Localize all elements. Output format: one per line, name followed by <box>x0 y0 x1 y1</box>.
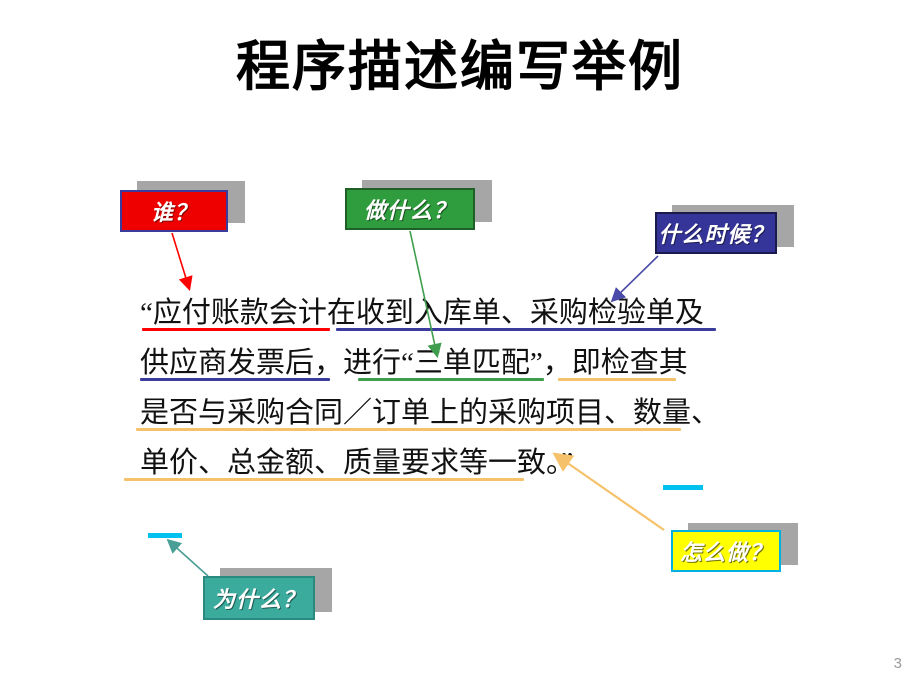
body-line-3: 是否与采购合同／订单上的采购项目、数量、 <box>140 388 720 438</box>
arrow-why <box>169 541 208 576</box>
what-underline <box>358 378 544 381</box>
how-cyan-marker <box>663 485 703 490</box>
body-line-1: “应付账款会计在收到入库单、采购检验单及 <box>140 288 720 338</box>
when-underline-a <box>336 328 716 331</box>
when-underline-b <box>140 378 330 381</box>
callout-when[interactable]: 什么时候？ <box>655 212 777 254</box>
why-cyan-marker <box>148 533 182 538</box>
arrow-who <box>172 233 189 288</box>
body-line-2: 供应商发票后，进行“三单匹配”，即检查其 <box>140 338 720 388</box>
callout-why-label: 为什么？ <box>213 582 305 614</box>
callout-what[interactable]: 做什么？ <box>345 188 475 230</box>
callout-when-label: 什么时候？ <box>658 217 773 249</box>
page-title: 程序描述编写举例 <box>0 38 920 97</box>
body-line-4-text: 单价、总金额、质量要求等一致。” <box>140 447 573 479</box>
callout-how[interactable]: 怎么做？ <box>671 530 781 572</box>
how-underline-b <box>136 428 681 431</box>
how-underline-a <box>558 378 676 381</box>
slide-canvas: 程序描述编写举例 谁？ 做什么？ 什么时候？ 怎么做？ 为什么？ “应付账款会计… <box>0 0 920 690</box>
callout-how-label: 怎么做？ <box>680 535 772 567</box>
how-underline-c <box>124 478 524 481</box>
callout-who[interactable]: 谁？ <box>120 190 228 232</box>
body-line-2-text: 供应商发票后，进行“三单匹配”，即检查其 <box>140 347 688 379</box>
body-line-4: 单价、总金额、质量要求等一致。” <box>140 438 720 488</box>
body-line-3-text: 是否与采购合同／订单上的采购项目、数量、 <box>140 397 720 429</box>
callout-who-label: 谁？ <box>151 195 197 227</box>
body-paragraph: “应付账款会计在收到入库单、采购检验单及 供应商发票后，进行“三单匹配”，即检查… <box>140 288 720 488</box>
who-underline <box>142 328 330 331</box>
callout-why[interactable]: 为什么？ <box>203 576 315 620</box>
slide-number: 3 <box>894 655 902 672</box>
callout-what-label: 做什么？ <box>364 193 456 225</box>
body-line-1-text: “应付账款会计在收到入库单、采购检验单及 <box>140 297 704 329</box>
